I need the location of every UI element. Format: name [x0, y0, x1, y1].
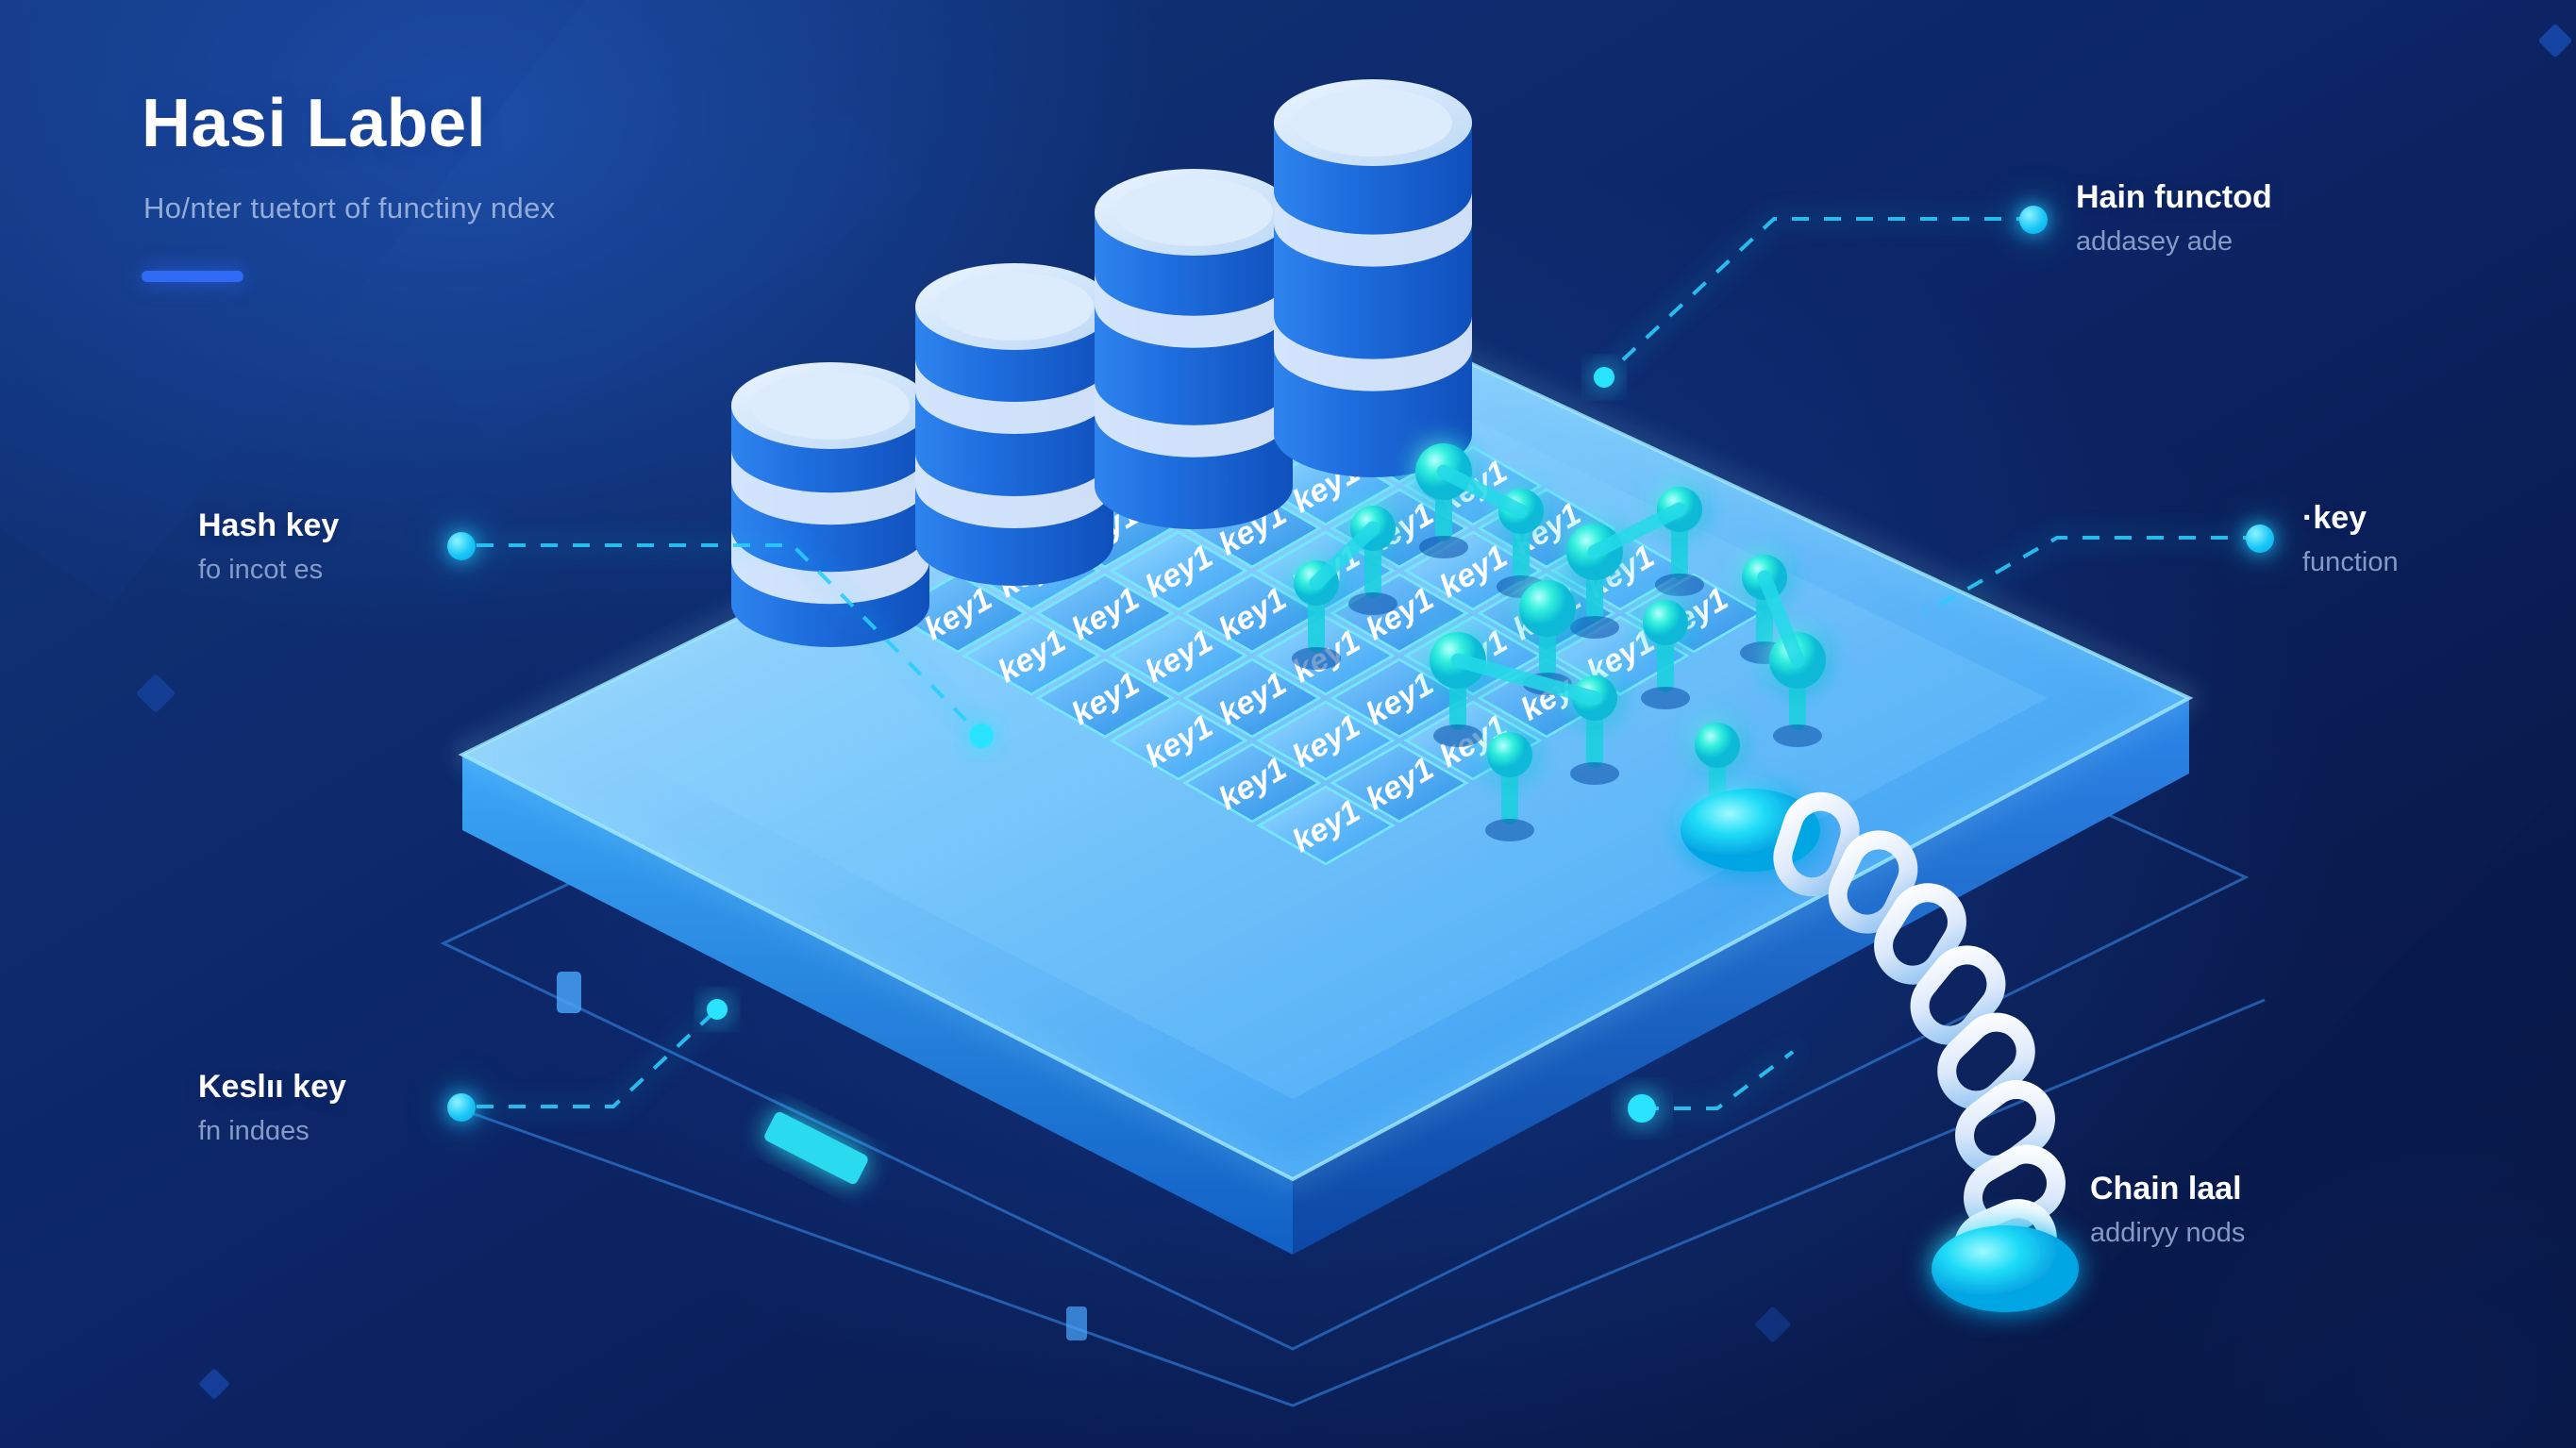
page-title: Hasi Label [142, 90, 556, 158]
database-cylinder[interactable] [915, 263, 1113, 586]
chain-end-cap[interactable] [1932, 1225, 2079, 1312]
callout-title: Hash key [198, 509, 339, 543]
callout-subtitle: addiryy nods [2090, 1218, 2245, 1249]
hash-node-sphere [1487, 732, 1532, 777]
callout-hash-key[interactable]: Hash key fo incot es [198, 509, 339, 586]
database-cylinder[interactable] [731, 362, 929, 647]
callout-hain-functod[interactable]: Hain functod addasey ade [2076, 181, 2272, 258]
callout-title: Chain laal [2090, 1173, 2245, 1207]
callout-subtitle: fn indɑes [198, 1116, 346, 1147]
callout-subtitle: fo incot es [198, 555, 339, 586]
title-block: Hasi Label Ho/nter tuetort of functiny n… [142, 90, 556, 282]
callout-dot-hash-key[interactable] [447, 532, 476, 560]
callout-chain-laal[interactable]: Chain laal addiryy nods [2090, 1173, 2245, 1249]
leader-chain-laal [1642, 1052, 1793, 1108]
callout-key-function[interactable]: ·key function [2302, 502, 2399, 578]
callout-title: Keslıı key [198, 1071, 346, 1105]
database-cylinder[interactable] [1274, 79, 1472, 477]
title-accent-bar [142, 271, 243, 282]
infographic-canvas: key1key1key1key1key1key1key1key1key1key1… [0, 0, 2576, 1448]
callout-subtitle: addasey ade [2076, 226, 2272, 258]
database-cylinder[interactable] [1095, 169, 1293, 529]
callout-dot-keslin-key[interactable] [447, 1093, 476, 1122]
callout-title: ·key [2302, 502, 2399, 536]
callout-keslin-key[interactable]: Keslıı key fn indɑes [198, 1071, 346, 1147]
hash-node-sphere [1643, 600, 1688, 645]
callout-dot-key-function[interactable] [2246, 524, 2274, 553]
callout-title: Hain functod [2076, 181, 2272, 215]
callout-subtitle: function [2302, 547, 2399, 578]
hash-node-sphere [1695, 723, 1740, 768]
callout-dot-hain-functod[interactable] [2019, 206, 2048, 234]
page-subtitle: Ho/nter tuetort of functiny ndex [143, 191, 556, 225]
leader-hain-functod [1604, 219, 2033, 377]
hash-node-sphere [1519, 580, 1576, 637]
